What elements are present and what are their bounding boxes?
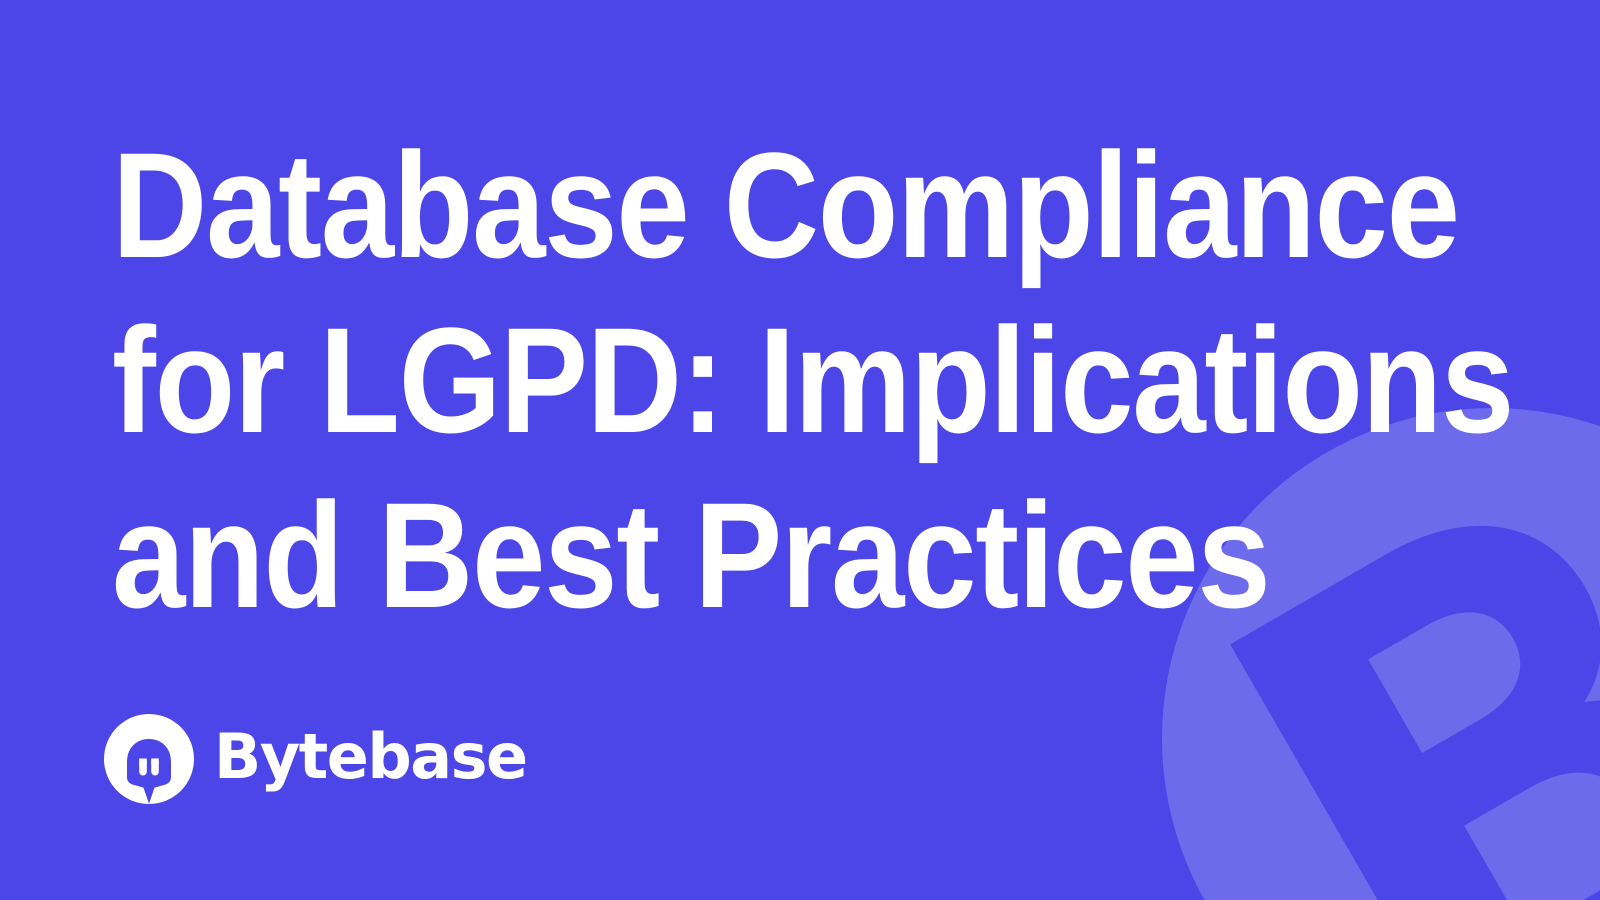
title-line-1: Database Compliance	[112, 118, 1256, 293]
brand-lockup[interactable]: Bytebase	[104, 714, 527, 804]
blog-cover-card: Database Compliance for LGPD: Implicatio…	[0, 0, 1600, 900]
page-title: Database Compliance for LGPD: Implicatio…	[112, 118, 1412, 643]
title-line-3: and Best Practices	[112, 468, 1256, 643]
brand-wordmark: Bytebase	[214, 726, 527, 793]
title-line-2: for LGPD: Implications	[112, 293, 1256, 468]
bytebase-logo-icon	[104, 714, 194, 804]
